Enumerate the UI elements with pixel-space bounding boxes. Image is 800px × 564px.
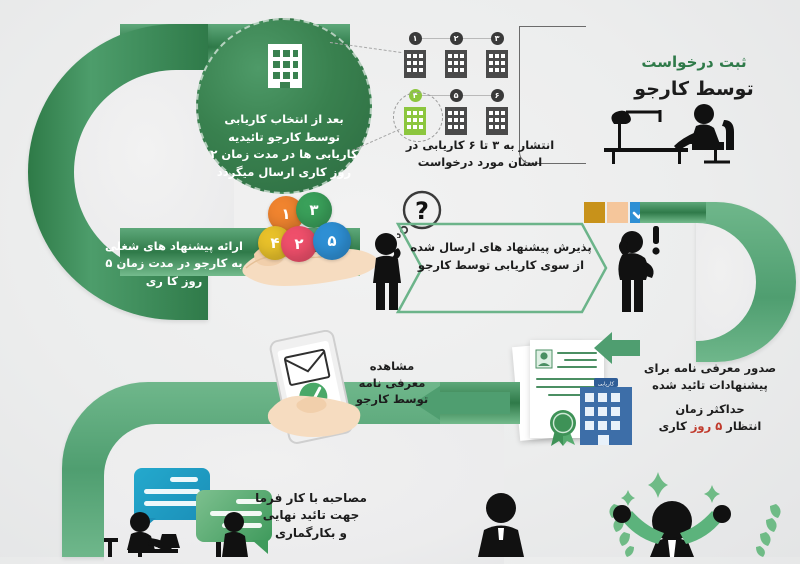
ribbon-right-top-stub — [640, 202, 706, 223]
selection-square-2[interactable] — [607, 202, 628, 223]
letter-wait-prefix: انتظار — [722, 419, 761, 433]
exclamation-mark-icon — [648, 226, 664, 256]
building-cell-3: ۳ — [480, 32, 514, 82]
building-number-badge: ۳ — [491, 32, 504, 45]
chat-line — [144, 501, 200, 506]
offer-ball-label: ۵ — [327, 232, 336, 250]
employer-standing-icon — [470, 492, 532, 557]
building-cell-2: ۲ — [439, 32, 473, 82]
selection-square-1[interactable] — [584, 202, 605, 223]
interview-text-block: مصاحبه با کار فرما جهت تائید نهایی و بکا… — [236, 490, 386, 542]
register-title-line2: توسط کارجو — [596, 76, 792, 104]
building-label-text: کاریابی — [598, 381, 615, 388]
offer-ball-label: ۲ — [294, 235, 303, 253]
svg-text:?: ? — [415, 197, 429, 225]
letter-line-4: انتظار ۵ روز کاری — [626, 418, 794, 435]
publish-text: انتشار به ۳ تا ۶ کاریابی در استان مورد د… — [392, 137, 568, 170]
building-number-badge: ۵ — [450, 89, 463, 102]
offer-ball-label: ۱ — [281, 205, 290, 223]
sparkle-icon — [621, 472, 720, 506]
offer-ball-5: ۵ — [313, 222, 351, 260]
interview-line-2: جهت تائید نهایی — [236, 507, 386, 524]
building-number-badge: ۶ — [491, 89, 504, 102]
infographic-canvas: بعد از انتخاب کاریابی توسط کارجو تائیدیه… — [0, 0, 800, 557]
view-letter-line-1: مشاهده — [338, 358, 446, 375]
letter-line-1: صدور معرفی نامه برای — [626, 360, 794, 377]
chat-line — [144, 489, 200, 494]
building-cell-5: ۵ — [439, 89, 473, 139]
chat-line — [170, 477, 198, 482]
register-step: ثبت درخواست توسط کارجو — [596, 52, 792, 103]
interview-line-1: مصاحبه با کار فرما — [236, 490, 386, 507]
register-title-line1: ثبت درخواست — [596, 52, 792, 74]
interview-line-3: و بکارگماری — [236, 525, 386, 542]
building-number-badge: ۲ — [450, 32, 463, 45]
offer-ball-label: ۳ — [309, 201, 318, 219]
offer-ball-label: ۴ — [270, 234, 279, 252]
letter-wait-suffix: کاری — [659, 419, 691, 433]
view-letter-text-block: مشاهده معرفی نامه توسط کارجو — [338, 358, 446, 408]
offer-ball-2: ۲ — [281, 226, 317, 262]
view-letter-line-2: معرفی نامه — [338, 375, 446, 392]
office-building-icon — [260, 38, 310, 90]
arrow-up-to-letter — [594, 330, 640, 370]
letter-text-block: صدور معرفی نامه برای پیشنهادات تائید شده… — [626, 360, 794, 435]
view-letter-line-3: توسط کارجو — [338, 391, 446, 408]
accept-text: پذیرش پیشنهاد های ارسال شده از سوی کاریا… — [408, 238, 594, 275]
letter-line-3: حداکثر زمان — [626, 401, 794, 418]
confirmation-circle-text: بعد از انتخاب کاریابی توسط کارجو تائیدیه… — [209, 111, 359, 182]
person-at-desk-icon — [600, 102, 780, 164]
building-cell-1: ۱ — [398, 32, 432, 82]
interviewee-at-laptop-icon — [104, 512, 196, 557]
active-building-highlight-ring — [393, 92, 443, 142]
building-number-badge: ۱ — [409, 32, 422, 45]
building-cell-6: ۶ — [480, 89, 514, 139]
offers-text: ارائه پیشنهاد های شغلی به کارجو در مدت ز… — [104, 238, 244, 290]
letter-line-2: پیشنهادات تائید شده — [626, 377, 794, 394]
celebrating-person-with-laurel — [600, 460, 790, 557]
letter-wait-highlight: ۵ روز — [691, 419, 722, 433]
